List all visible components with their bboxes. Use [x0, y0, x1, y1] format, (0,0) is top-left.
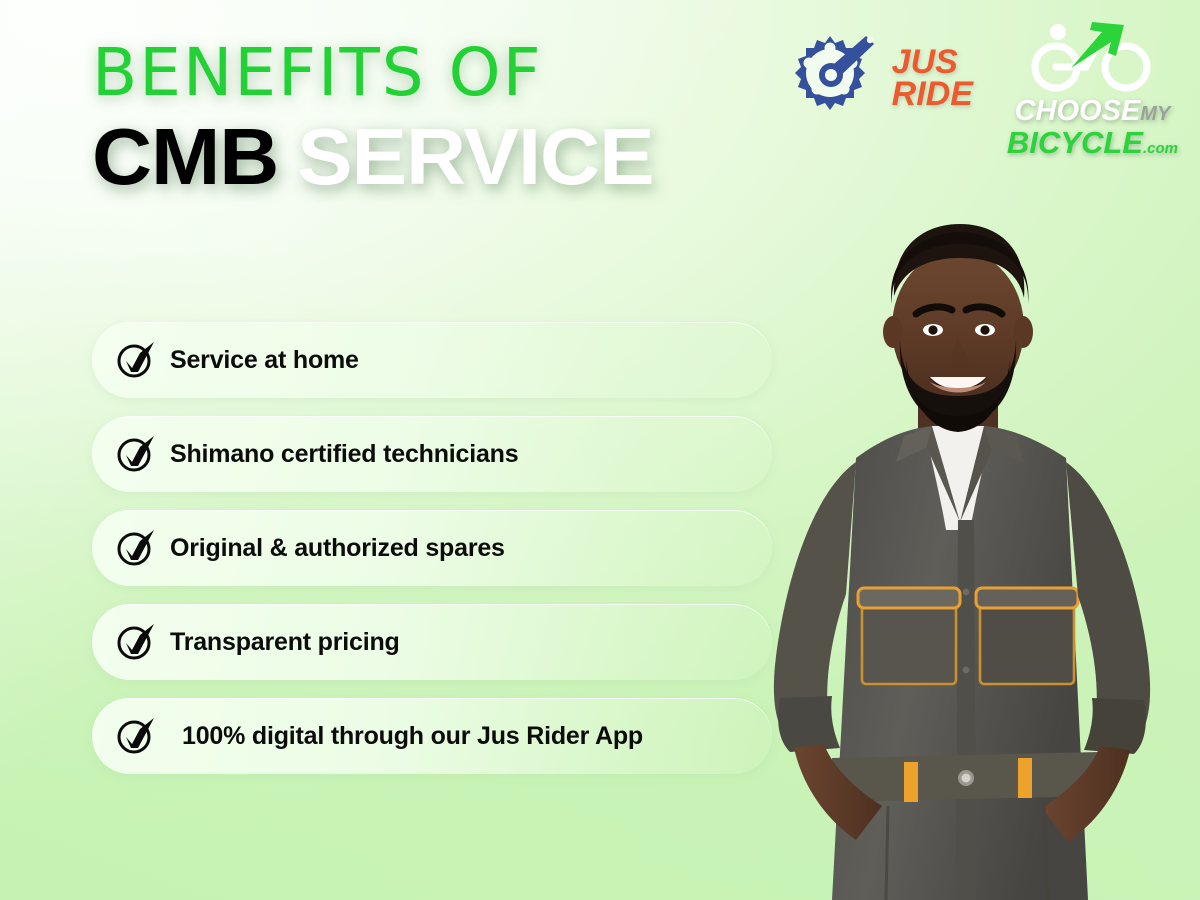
benefit-label: 100% digital through our Jus Rider App	[182, 722, 643, 751]
dotcom-text: .com	[1143, 140, 1178, 157]
choose-text: CHOOSE	[1015, 95, 1141, 127]
check-circle-icon	[116, 434, 156, 474]
check-circle-icon	[116, 528, 156, 568]
choosemybicycle-line-1: CHOOSEMY	[1015, 97, 1171, 126]
benefit-item-1[interactable]: Service at home	[92, 322, 772, 398]
my-text: MY	[1140, 103, 1170, 125]
bicycle-arrow-icon	[1028, 22, 1156, 99]
benefit-item-4[interactable]: Transparent pricing	[92, 604, 772, 680]
poster-canvas: BENEFITS OF CMBSERVICE	[0, 0, 1200, 900]
choosemybicycle-line-2: BICYCLE.com	[1007, 127, 1178, 158]
check-circle-icon	[116, 340, 156, 380]
benefit-label: Shimano certified technicians	[170, 440, 518, 469]
benefit-label: Transparent pricing	[170, 628, 400, 657]
benefit-item-3[interactable]: Original & authorized spares	[92, 510, 772, 586]
benefit-item-5[interactable]: 100% digital through our Jus Rider App	[92, 698, 772, 774]
check-circle-icon	[116, 716, 156, 756]
check-circle-icon	[116, 622, 156, 662]
jusride-wordmark: JUS RIDE	[892, 47, 973, 110]
benefit-label: Original & authorized spares	[170, 534, 505, 563]
jusride-line-2: RIDE	[892, 75, 973, 113]
chainring-crank-icon	[782, 22, 886, 135]
jusride-logo[interactable]: JUS RIDE	[782, 22, 973, 135]
headline-cmb: CMB	[92, 112, 278, 201]
headline-service: SERVICE	[297, 112, 653, 201]
headline-line-1: BENEFITS OF	[92, 42, 632, 105]
headline-line-2: CMBSERVICE	[92, 119, 654, 195]
logo-row: JUS RIDE CHOOSEMY B	[782, 22, 1178, 158]
benefit-item-2[interactable]: Shimano certified technicians	[92, 416, 772, 492]
choosemybicycle-logo[interactable]: CHOOSEMY BICYCLE.com	[1007, 22, 1178, 158]
benefits-list: Service at home Shimano certified techni…	[92, 322, 772, 774]
headline-block: BENEFITS OF CMBSERVICE	[92, 42, 632, 195]
benefit-label: Service at home	[170, 346, 359, 375]
bicycle-text: BICYCLE	[1007, 125, 1143, 160]
mechanic-photo	[736, 200, 1200, 900]
